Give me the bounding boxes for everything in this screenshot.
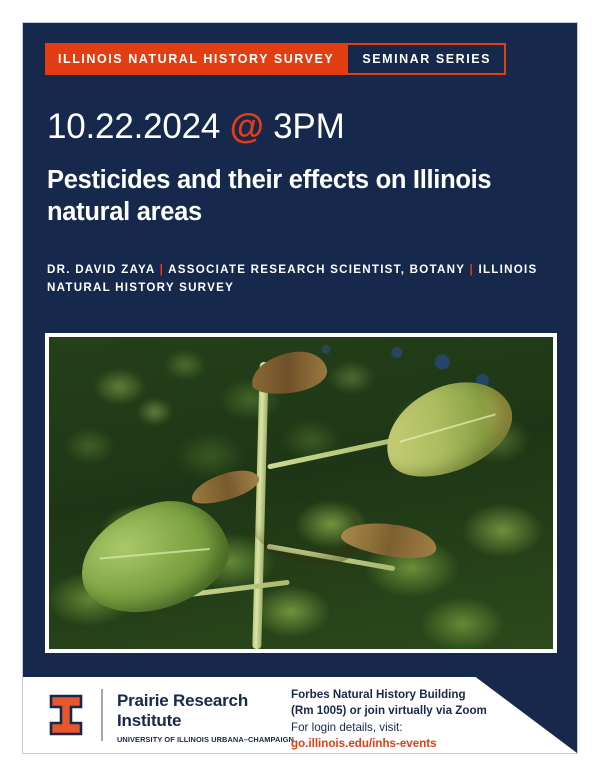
venue-info: Forbes Natural History Building (Rm 1005… (291, 687, 487, 753)
foliage-photo (49, 337, 553, 649)
institute-subtitle: UNIVERSITY OF ILLINOIS URBANA–CHAMPAIGN (117, 735, 294, 744)
speaker-credit: DR. DAVID ZAYA | ASSOCIATE RESEARCH SCIE… (47, 261, 557, 297)
credit-separator-2: | (470, 263, 475, 276)
institute-name-line2: Institute (117, 711, 248, 731)
block-i-logo-icon (49, 694, 83, 736)
event-datetime: 10.22.2024 @ 3PM (47, 108, 345, 147)
poster-footer: Prairie Research Institute UNIVERSITY OF… (23, 677, 577, 753)
speaker-name: DR. DAVID ZAYA (47, 263, 155, 276)
institute-name-line1: Prairie Research (117, 691, 248, 711)
venue-line-2: (Rm 1005) or join virtually via Zoom (291, 703, 487, 719)
header-banner: ILLINOIS NATURAL HISTORY SURVEY SEMINAR … (45, 43, 506, 75)
institute-name: Prairie Research Institute (117, 691, 248, 732)
banner-org-block: ILLINOIS NATURAL HISTORY SURVEY (45, 43, 346, 75)
banner-series-label: SEMINAR SERIES (362, 53, 491, 66)
photo-frame (45, 333, 557, 653)
banner-series-block: SEMINAR SERIES (346, 43, 506, 75)
seminar-poster: ILLINOIS NATURAL HISTORY SURVEY SEMINAR … (22, 22, 578, 754)
event-title: Pesticides and their effects on Illinois… (47, 164, 547, 228)
footer-divider (101, 689, 103, 741)
at-symbol: @ (230, 107, 264, 146)
venue-line-3: For login details, visit: (291, 720, 487, 736)
venue-line-1: Forbes Natural History Building (291, 687, 487, 703)
speaker-role: ASSOCIATE RESEARCH SCIENTIST, BOTANY (168, 263, 465, 276)
credit-separator-1: | (160, 263, 165, 276)
event-date: 10.22.2024 (47, 107, 220, 146)
banner-org-label: ILLINOIS NATURAL HISTORY SURVEY (58, 53, 334, 66)
event-time: 3PM (273, 107, 344, 146)
event-url-link[interactable]: go.illinois.edu/inhs-events (291, 736, 487, 752)
